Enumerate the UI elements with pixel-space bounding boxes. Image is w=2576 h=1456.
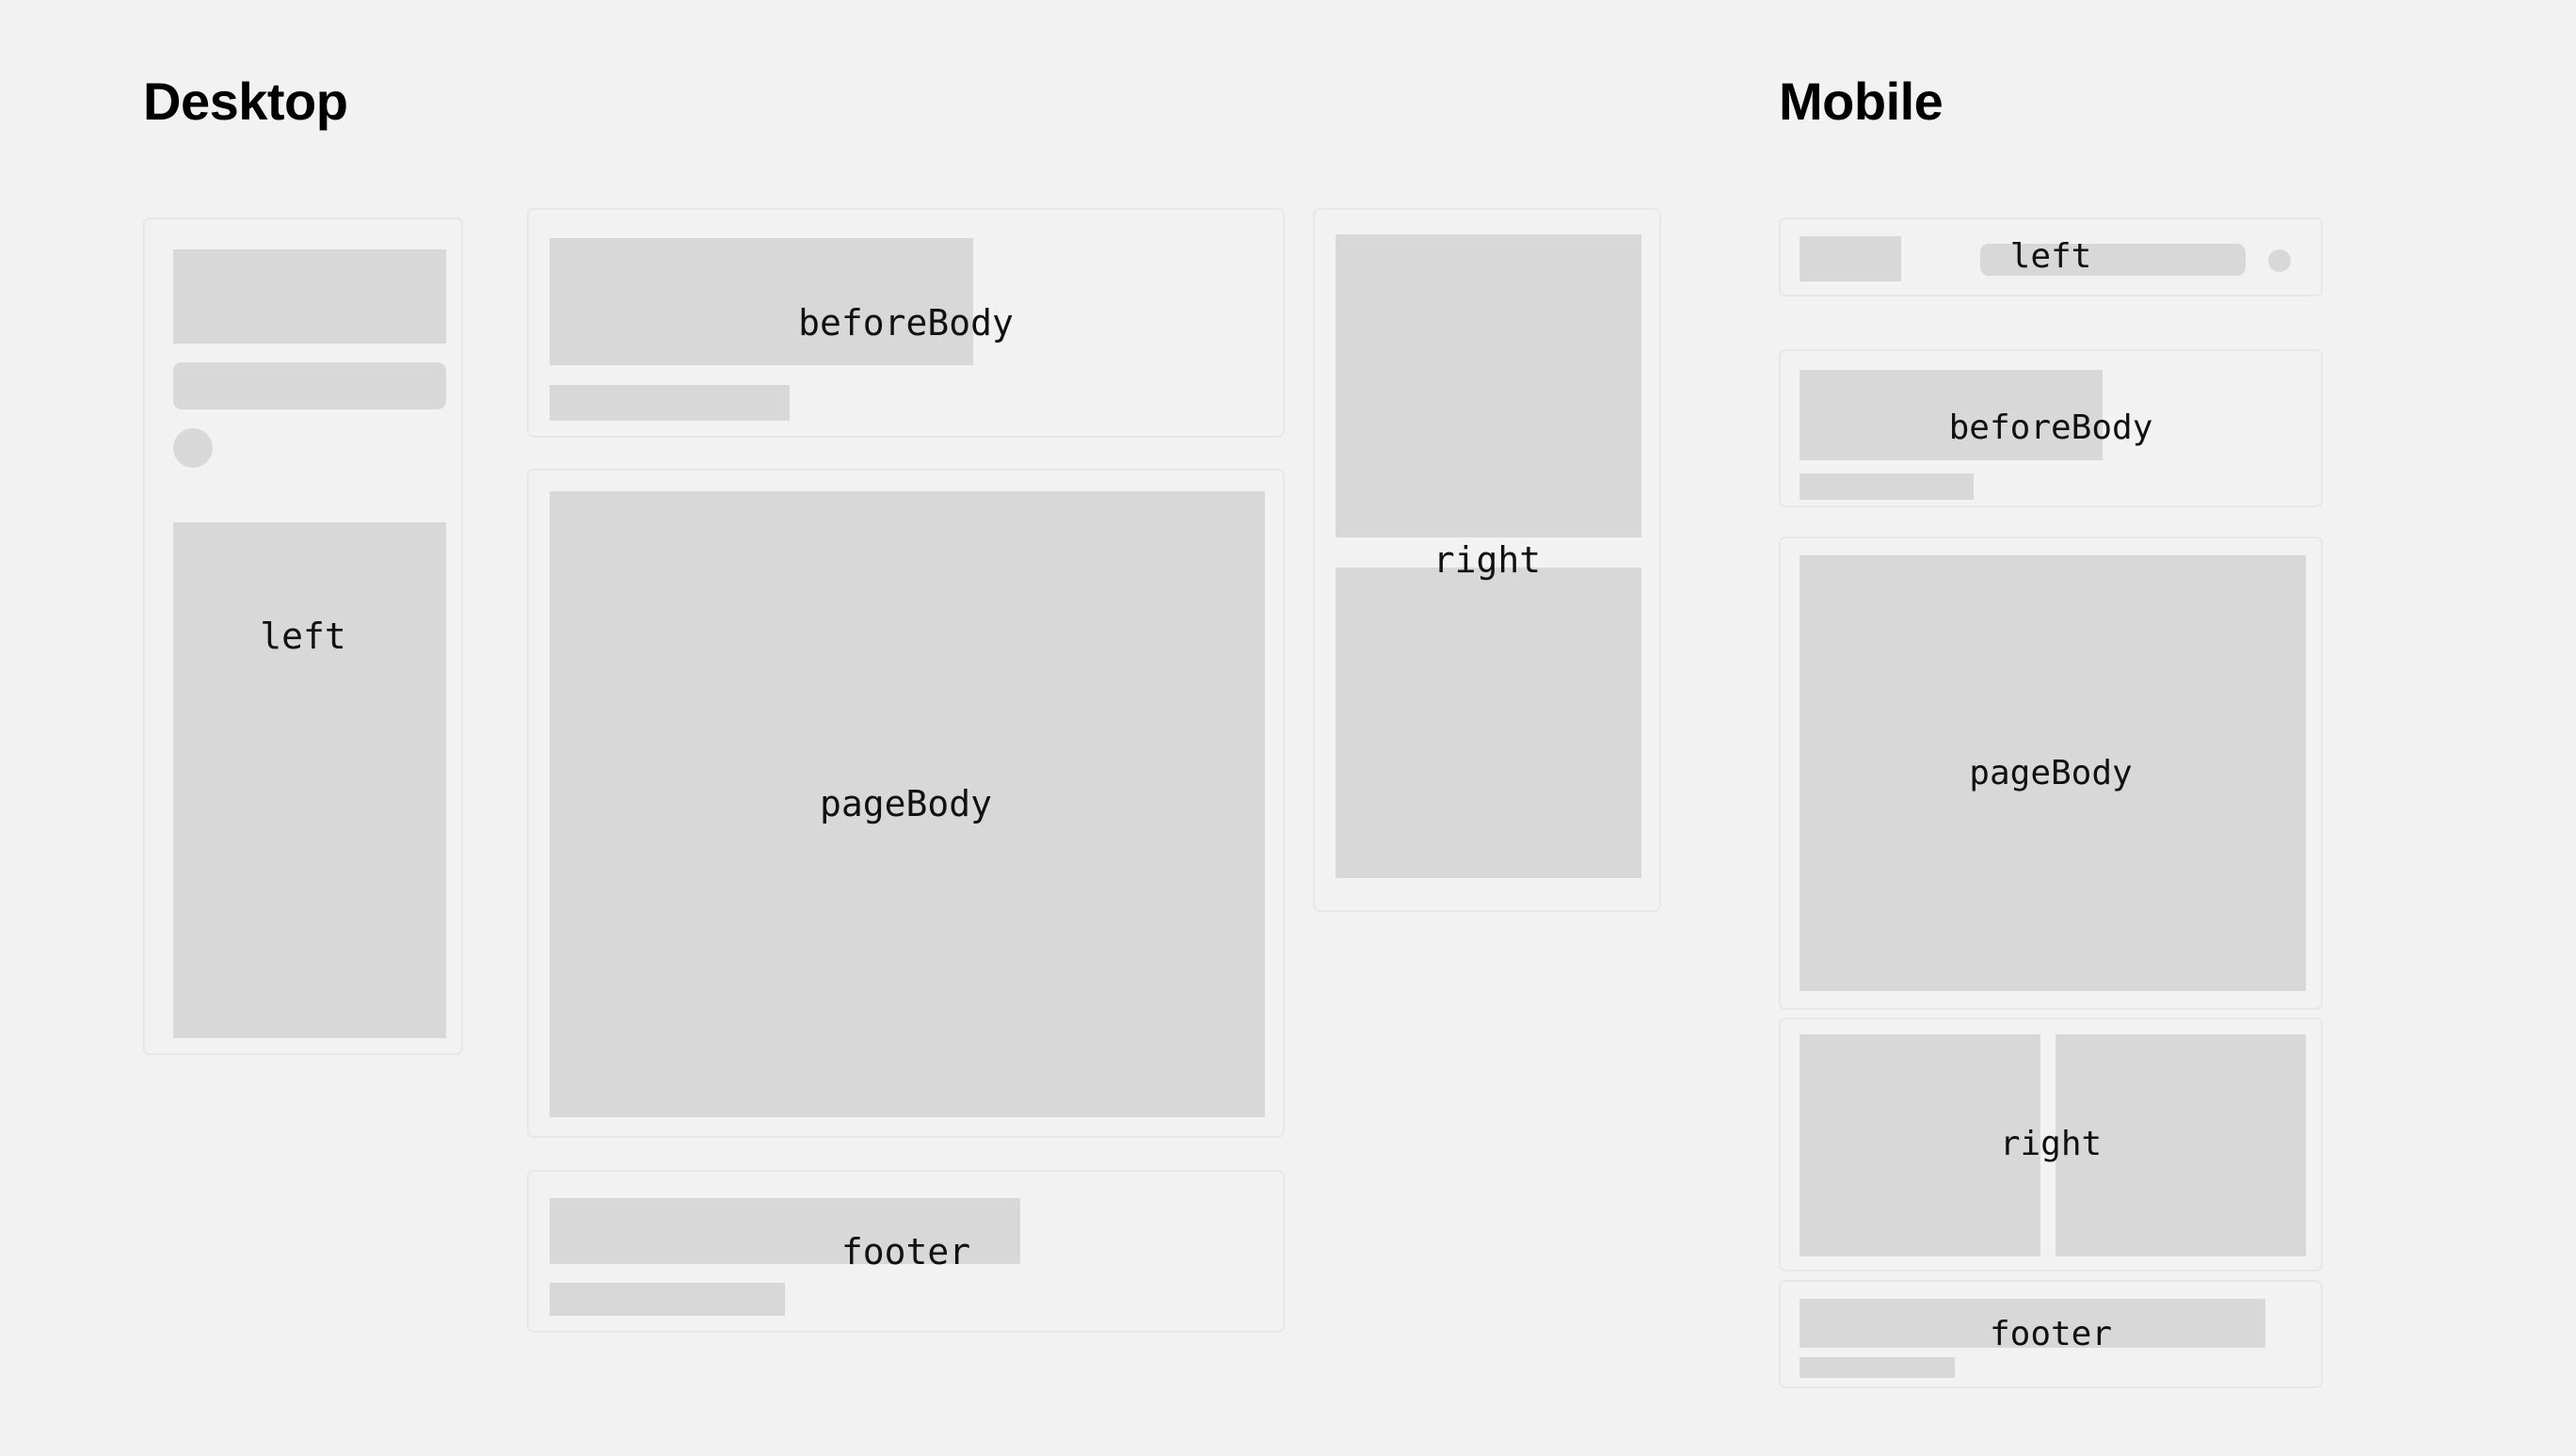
- skeleton-block: [2056, 1034, 2306, 1256]
- skeleton-block: [1800, 1034, 2040, 1256]
- mobile-region-before-body[interactable]: beforeBody: [1779, 349, 2323, 507]
- desktop-region-before-body[interactable]: beforeBody: [527, 208, 1285, 438]
- skeleton-block: [1800, 1299, 2265, 1348]
- mobile-region-page-body[interactable]: pageBody: [1779, 536, 2323, 1010]
- skeleton-block: [1336, 234, 1641, 537]
- desktop-region-footer[interactable]: footer: [527, 1170, 1285, 1333]
- desktop-section-title: Desktop: [143, 75, 347, 128]
- wireframe-stage: Desktop left beforeBody pageBody footer: [0, 0, 2576, 1456]
- desktop-region-right[interactable]: right: [1313, 208, 1661, 912]
- mobile-region-left[interactable]: left: [1779, 217, 2323, 296]
- skeleton-block: [1800, 1357, 1955, 1378]
- skeleton-block: [550, 1198, 1020, 1264]
- skeleton-block: [173, 522, 446, 1038]
- skeleton-block: [550, 385, 790, 421]
- skeleton-pill: [1980, 244, 2246, 276]
- skeleton-avatar-circle: [2268, 249, 2291, 272]
- skeleton-pill: [173, 362, 446, 409]
- skeleton-block: [1800, 473, 1974, 500]
- desktop-region-left[interactable]: left: [143, 217, 463, 1055]
- mobile-region-right[interactable]: right: [1779, 1017, 2323, 1272]
- skeleton-block: [550, 1283, 785, 1316]
- skeleton-block: [173, 249, 446, 344]
- skeleton-block: [1800, 236, 1901, 281]
- desktop-region-page-body[interactable]: pageBody: [527, 469, 1285, 1138]
- skeleton-block: [1336, 568, 1641, 878]
- skeleton-block: [1800, 370, 2103, 460]
- skeleton-block: [550, 238, 973, 365]
- skeleton-block: [550, 491, 1265, 1117]
- skeleton-block: [1800, 555, 2306, 991]
- mobile-section-title: Mobile: [1779, 75, 1943, 128]
- mobile-region-footer[interactable]: footer: [1779, 1280, 2323, 1388]
- skeleton-avatar-circle: [173, 428, 213, 468]
